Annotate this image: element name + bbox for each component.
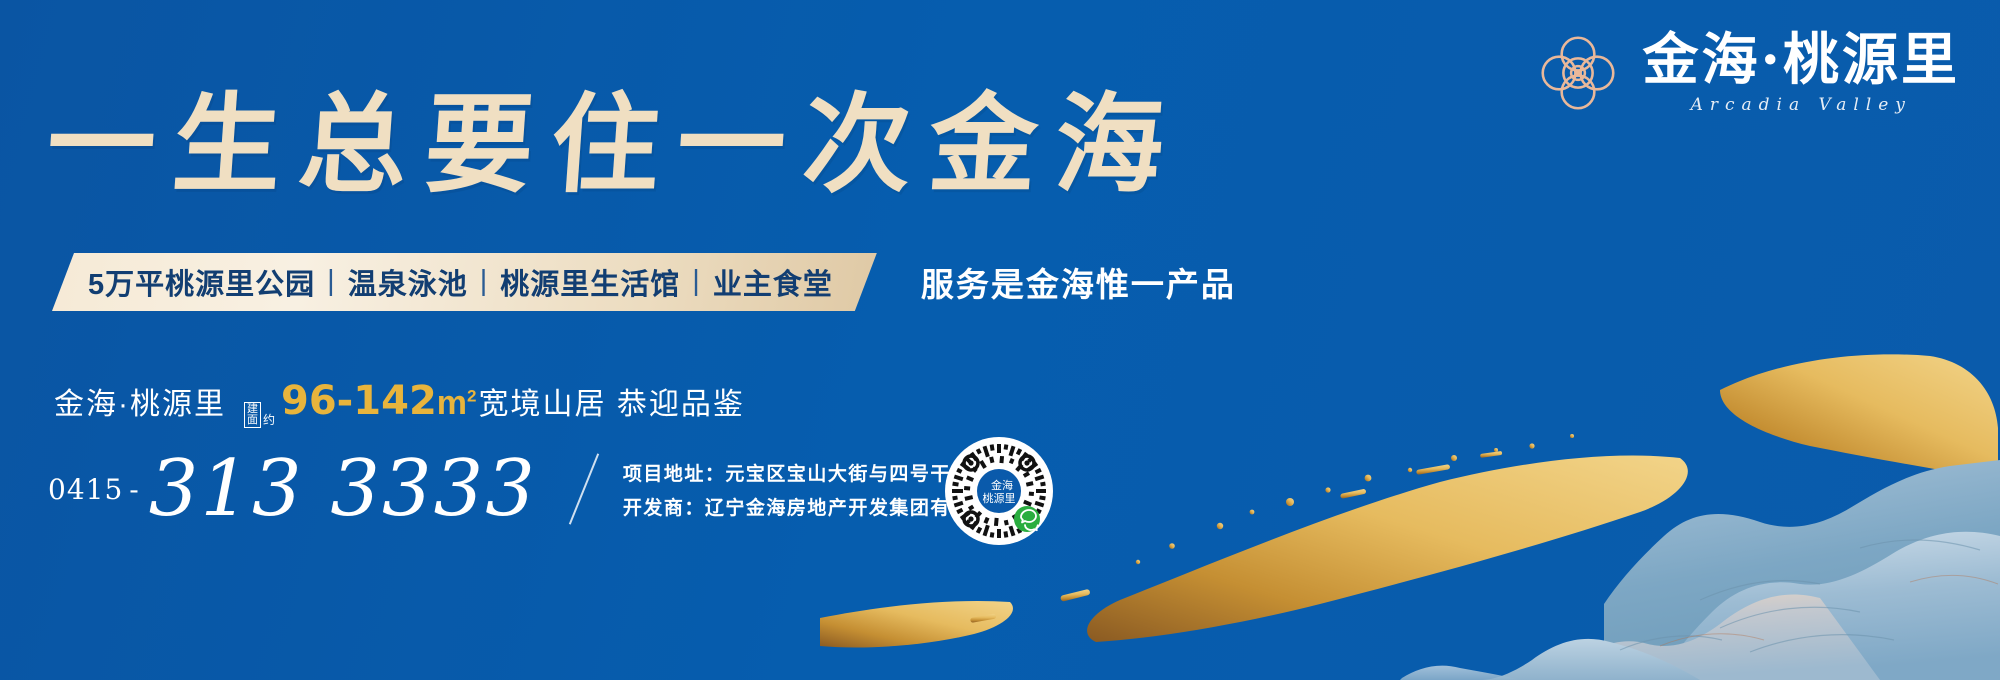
area-unit-m: m	[437, 384, 467, 422]
amenity-separator: |	[692, 265, 701, 298]
qr-code[interactable]: 金海 桃源里	[945, 437, 1053, 545]
phone-area-code: 0415	[48, 473, 123, 506]
built-area-char-2: 面	[247, 415, 258, 426]
product-description: 金海·桃源里 建 面 约 96-142 m2 宽境山居 恭迎品鉴	[54, 378, 745, 430]
amenity-item-2: 桃源里生活馆	[500, 261, 680, 303]
phone-number[interactable]: 313 3333	[149, 450, 537, 528]
amenity-separator: |	[480, 265, 489, 298]
brand-logo: 金海·桃源里 Arcadia Valley	[1535, 30, 1961, 116]
service-slogan: 服务是金海惟一产品	[921, 258, 1236, 306]
qr-center-line-2: 桃源里	[983, 491, 1016, 505]
qr-center-line-1: 金海	[991, 478, 1013, 492]
phone-dash: -	[129, 473, 138, 506]
wechat-icon	[1014, 506, 1040, 532]
diagonal-divider	[569, 453, 599, 524]
amenity-ribbon-row: 5万平桃源里公园 | 温泉泳池 | 桃源里生活馆 | 业主食堂 服务是金海惟一产…	[52, 253, 1236, 311]
built-area-approx: 约	[263, 411, 275, 428]
amenity-separator: |	[327, 265, 336, 298]
area-unit: m2	[437, 384, 477, 423]
built-area-box: 建 面	[244, 402, 261, 428]
product-project-name: 金海·桃源里	[54, 379, 226, 423]
amenity-ribbon: 5万平桃源里公园 | 温泉泳池 | 桃源里生活馆 | 业主食堂	[52, 253, 877, 311]
quatrefoil-flower-emblem-icon	[1535, 30, 1621, 116]
logo-name-en: Arcadia Valley	[1691, 95, 1912, 115]
logo-name-cn: 金海·桃源里	[1643, 31, 1961, 90]
page-title: 一生总要住一次金海	[43, 58, 1188, 214]
product-suffix-text: 宽境山居 恭迎品鉴	[478, 379, 744, 423]
contact-row: 0415 - 313 3333 项目地址：元宝区宝山大街与四号干线交汇处 开发商…	[48, 450, 1033, 528]
amenity-item-1: 温泉泳池	[348, 261, 468, 303]
built-area-label: 建 面 约	[244, 402, 275, 428]
amenity-item-3: 业主食堂	[713, 261, 833, 303]
area-range-value: 96-142	[281, 378, 437, 424]
amenity-item-0: 5万平桃源里公园	[88, 261, 315, 303]
area-unit-superscript: 2	[467, 387, 476, 406]
advertisement-banner: 金海·桃源里 Arcadia Valley 一生总要住一次金海 5万平桃源里公园…	[0, 0, 2000, 680]
amenity-ribbon-text: 5万平桃源里公园 | 温泉泳池 | 桃源里生活馆 | 业主食堂	[88, 261, 833, 303]
